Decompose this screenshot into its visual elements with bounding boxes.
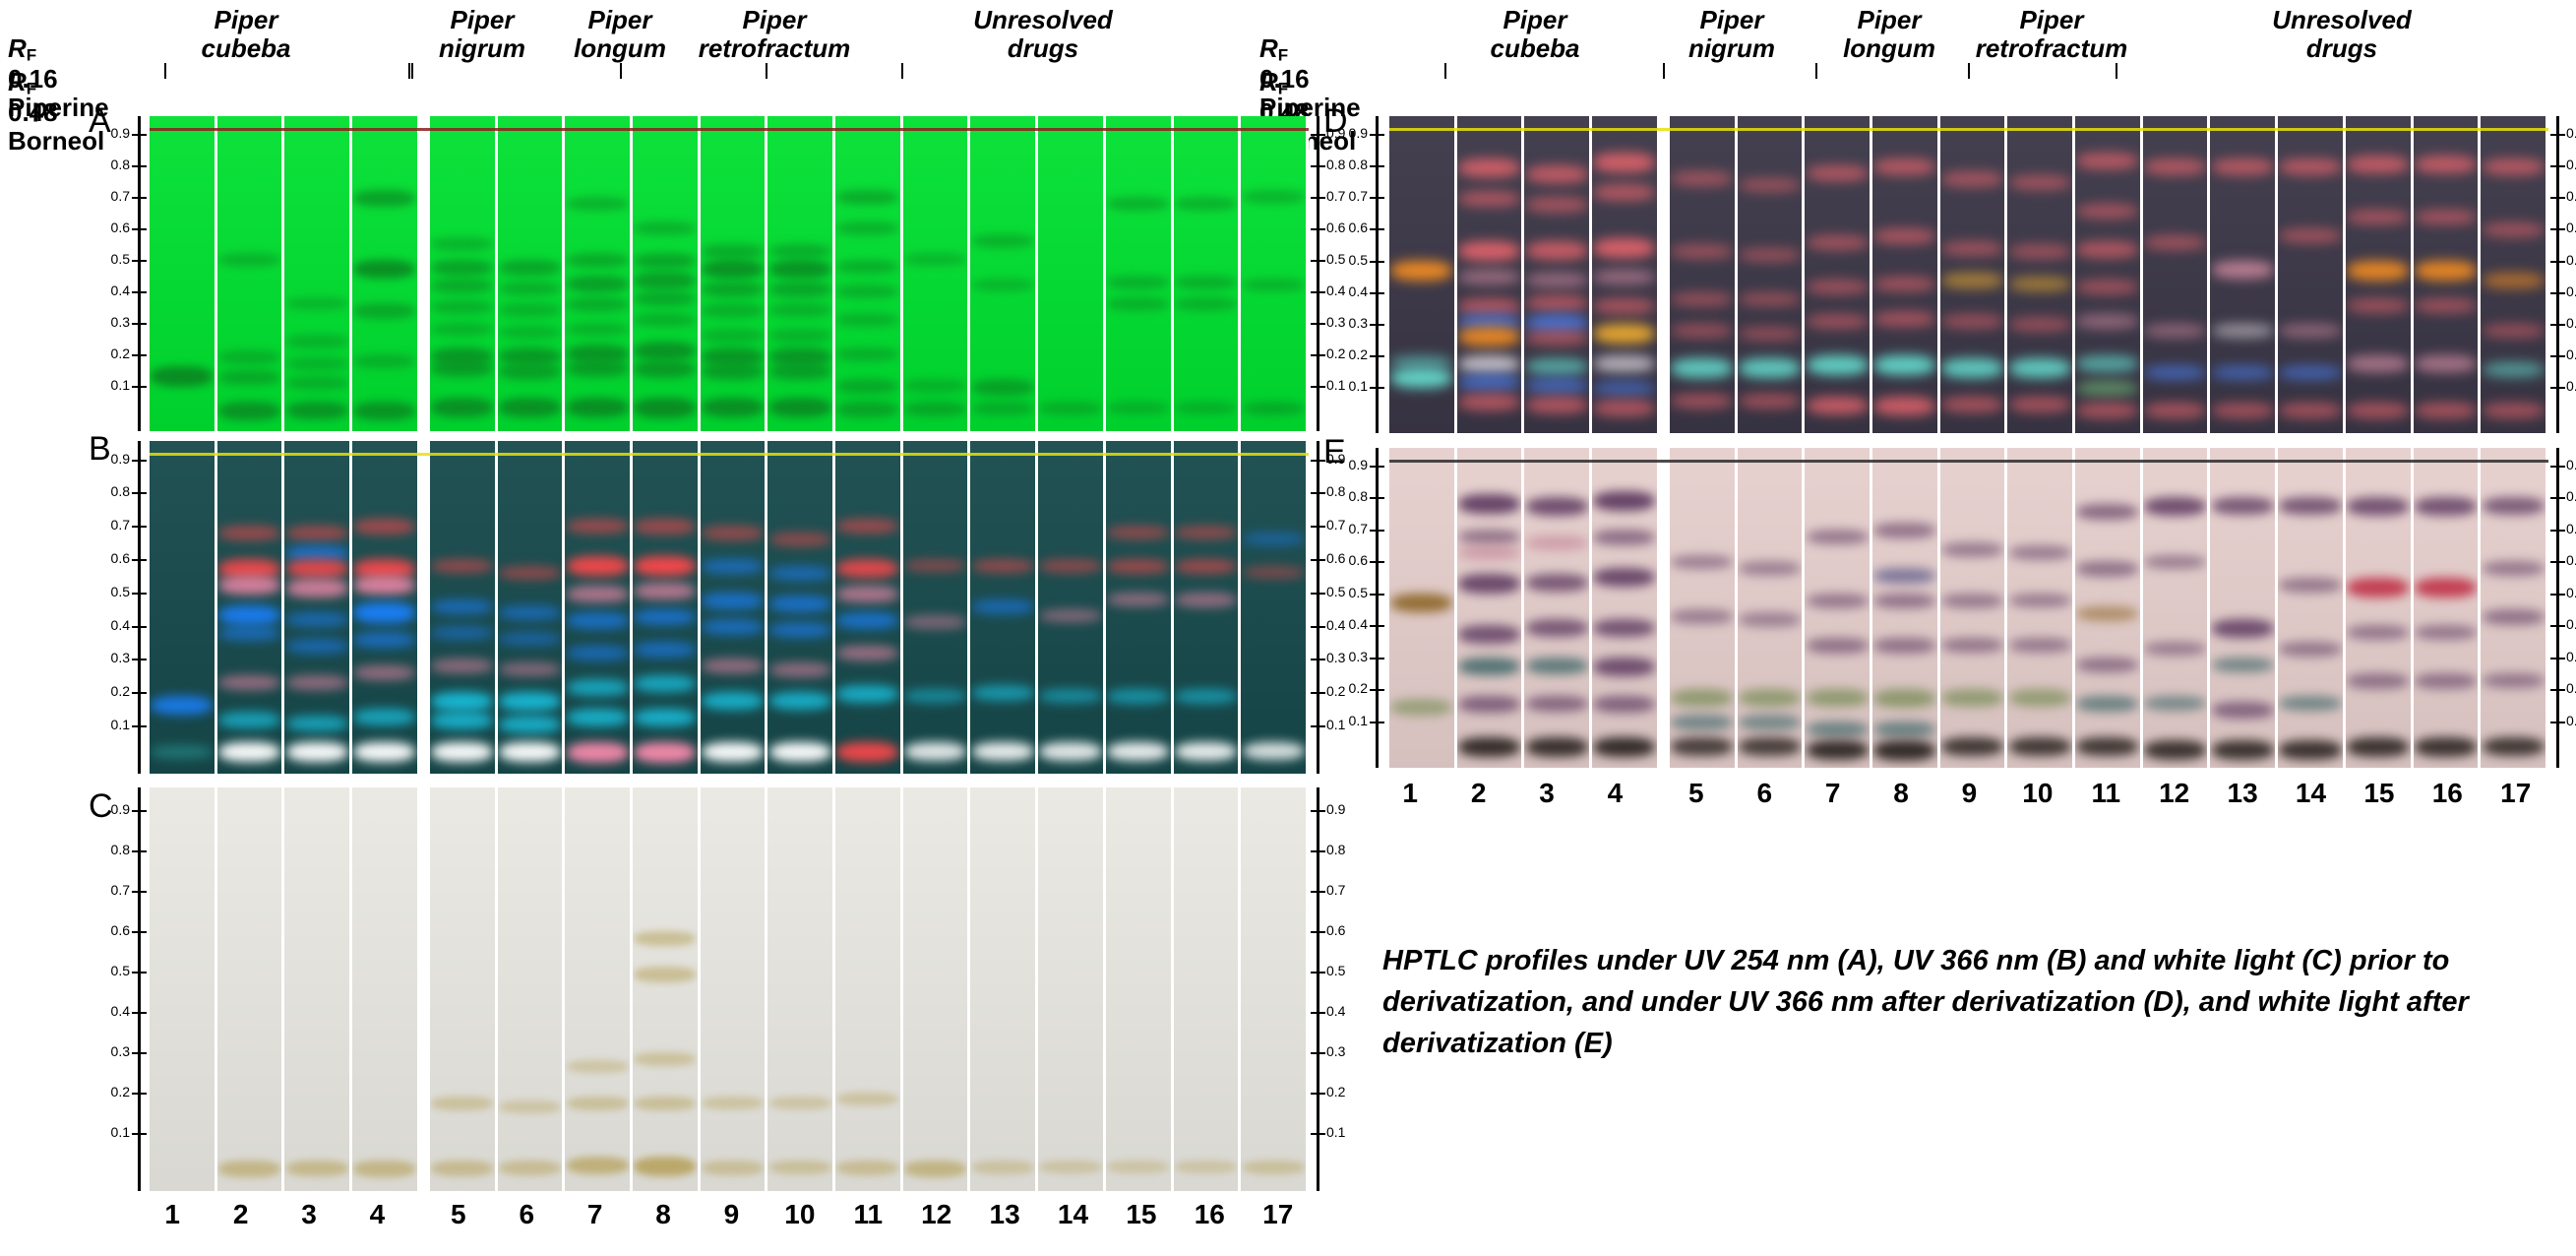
rf-axis-tick [1311, 972, 1325, 973]
chromatogram-plate-e [1389, 448, 2548, 768]
chromatogram-band [2279, 740, 2341, 760]
lane-number-10: 10 [767, 1199, 832, 1230]
lane-track [284, 116, 349, 431]
chromatogram-band [1175, 297, 1237, 311]
chromatogram-band [353, 576, 415, 596]
rf-axis-label: 0.3 [91, 1043, 130, 1059]
chromatogram-band [1671, 292, 1733, 307]
chromatogram-band [702, 559, 764, 575]
chromatogram-band [836, 586, 898, 602]
rf-axis-tick [132, 526, 147, 528]
chromatogram-band [1941, 689, 2003, 707]
lane-number-2: 2 [1445, 778, 1510, 809]
group-label-piper-retrofractum-right: Piper retrofractum [1929, 6, 2175, 63]
chromatogram-band [2347, 737, 2409, 757]
chromatogram-band [2076, 561, 2138, 577]
chromatogram-band [836, 742, 898, 763]
chromatogram-band [1593, 381, 1655, 396]
rf-axis-label: 0.2 [2566, 680, 2576, 696]
chromatogram-band [353, 402, 415, 420]
chromatogram-plate-c [150, 787, 1309, 1191]
lane-gap [1657, 448, 1670, 768]
rf-axis-tick [132, 810, 147, 812]
lane-number-gap [410, 1199, 423, 1230]
rf-axis-label: 0.7 [1328, 188, 1368, 204]
chromatogram-band [499, 303, 561, 317]
chromatogram-band [1873, 523, 1935, 538]
chromatogram-band [1593, 530, 1655, 545]
chromatogram-band [1873, 311, 1935, 327]
chromatogram-band [1390, 594, 1452, 613]
chromatogram-band [2076, 658, 2138, 673]
rf-axis-tick [2550, 165, 2565, 167]
lane-track [217, 787, 282, 1191]
chromatogram-band [702, 659, 764, 673]
chromatogram-band [2347, 298, 2409, 313]
chromatogram-band [702, 1161, 764, 1175]
chromatogram-band [1458, 158, 1520, 177]
chromatogram-band [1941, 273, 2003, 288]
chromatogram-band [431, 742, 493, 763]
lane-track [217, 116, 282, 431]
lane-track [835, 787, 900, 1191]
rf-axis-tick [1311, 626, 1325, 628]
chromatogram-band [1039, 742, 1101, 761]
chromatogram-band [1807, 689, 1869, 707]
chromatogram-band [567, 360, 629, 377]
lane-track [2075, 448, 2140, 768]
lane-track [1738, 116, 1803, 433]
rf-axis-label: 0.7 [1326, 882, 1366, 898]
rf-axis-left-a [138, 116, 141, 431]
chromatogram-band [353, 260, 415, 280]
lane-track [633, 441, 698, 774]
lane-track [1389, 448, 1454, 768]
lane-track [970, 441, 1035, 774]
chromatogram-band [499, 363, 561, 380]
chromatogram-band [2144, 158, 2206, 175]
lane-number-row-right: 1234567891011121314151617 [1378, 778, 2548, 809]
rf-axis-tick [1311, 354, 1325, 356]
lane-track [1457, 448, 1522, 768]
chromatogram-band [634, 291, 696, 307]
lane-track [565, 116, 630, 431]
lane-track [1038, 441, 1103, 774]
rf-axis-label: 0.5 [2566, 252, 2576, 268]
chromatogram-band [353, 709, 415, 725]
lane-track [498, 441, 563, 774]
chromatogram-band [2009, 397, 2071, 412]
lane-number-11: 11 [2073, 778, 2138, 809]
group-bracket-tick [408, 63, 410, 79]
chromatogram-band [836, 284, 898, 298]
rf-axis-label: 0.1 [1326, 1124, 1366, 1140]
chromatogram-band [1175, 1161, 1237, 1173]
group-bracket-tick [1968, 63, 1970, 79]
chromatogram-band [1039, 1161, 1101, 1173]
lane-track [150, 441, 215, 774]
chromatogram-band [1671, 737, 1733, 756]
rf-axis-tick [132, 197, 147, 199]
chromatogram-band [1593, 298, 1655, 314]
chromatogram-band [1593, 153, 1655, 172]
chromatogram-band [1243, 533, 1305, 545]
chromatogram-band [2347, 578, 2409, 597]
group-bracket-tick [411, 63, 413, 79]
lane-number-17: 17 [1246, 1199, 1311, 1230]
chromatogram-band [634, 1052, 696, 1066]
chromatogram-band [904, 253, 966, 266]
chromatogram-band [1175, 197, 1237, 211]
chromatogram-band [1526, 535, 1588, 550]
rf-axis-label: 0.1 [91, 717, 130, 732]
chromatogram-band [2483, 609, 2545, 625]
rf-axis-tick [1311, 460, 1325, 462]
chromatogram-band [2076, 737, 2138, 756]
rf-axis-label: 0.8 [91, 842, 130, 857]
chromatogram-band [2144, 642, 2206, 657]
lane-track [701, 441, 766, 774]
lane-track [903, 787, 968, 1191]
chromatogram-band [218, 350, 280, 364]
rf-axis-label: 0.1 [1328, 713, 1368, 728]
chromatogram-band [431, 398, 493, 417]
rf-axis-tick [2550, 594, 2565, 596]
lane-track [1940, 116, 2005, 433]
lane-track [2075, 116, 2140, 433]
lane-track [1174, 116, 1239, 431]
rf-axis-tick [2550, 134, 2565, 136]
rf-axis-tick [1370, 292, 1384, 294]
chromatogram-band [1873, 158, 1935, 175]
lane-track [2278, 448, 2343, 768]
chromatogram-band [2212, 740, 2274, 760]
chromatogram-band [702, 1097, 764, 1110]
chromatogram-band [1390, 699, 1452, 716]
chromatogram-band [1526, 295, 1588, 312]
rf-axis-tick [1370, 261, 1384, 263]
chromatogram-band [2415, 625, 2477, 640]
chromatogram-band [1107, 1161, 1169, 1173]
lane-track [2007, 116, 2072, 433]
rf-axis-label: 0.5 [1328, 585, 1368, 600]
rf-axis-tick [2550, 387, 2565, 389]
chromatogram-band [1873, 355, 1935, 375]
chromatogram-band [1039, 689, 1101, 704]
chromatogram-band [1458, 394, 1520, 410]
rf-axis-tick [1311, 659, 1325, 660]
lane-track [150, 116, 215, 431]
rf-axis-label: 0.2 [91, 1084, 130, 1099]
chromatogram-band [769, 533, 831, 546]
chromatogram-band [2144, 740, 2206, 760]
chromatogram-band [2009, 737, 2071, 756]
lane-track [565, 441, 630, 774]
chromatogram-band [499, 605, 561, 620]
chromatogram-band [2009, 594, 2071, 608]
rf-axis-label: 0.7 [91, 188, 130, 204]
chromatogram-band [2483, 362, 2545, 378]
chromatogram-band [2483, 324, 2545, 339]
lane-track [701, 787, 766, 1191]
chromatogram-band [567, 1097, 629, 1111]
chromatogram-band [499, 662, 561, 676]
lane-track [1389, 116, 1454, 433]
rf-axis-label: 0.2 [1326, 1084, 1366, 1099]
lane-track [1805, 116, 1870, 433]
chromatogram-band [1107, 197, 1169, 211]
chromatogram-band [2212, 365, 2274, 380]
chromatogram-band [1593, 238, 1655, 258]
chromatogram-band [702, 260, 764, 279]
rf-axis-label: 0.1 [1328, 378, 1368, 394]
rf-axis-label: 0.1 [91, 377, 130, 393]
rf-axis-label: 0.4 [2566, 283, 2576, 299]
rf-axis-tick [132, 291, 147, 293]
chromatogram-band [2144, 696, 2206, 711]
chromatogram-plate-b [150, 441, 1309, 774]
chromatogram-band [567, 679, 629, 696]
rf-axis-tick [1311, 559, 1325, 561]
lane-number-7: 7 [562, 1199, 627, 1230]
chromatogram-band [218, 253, 280, 267]
chromatogram-band [567, 253, 629, 268]
group-bracket-tick [2116, 63, 2117, 79]
chromatogram-band [1593, 696, 1655, 713]
rf-axis-tick [132, 228, 147, 230]
chromatogram-band [1458, 191, 1520, 207]
rf-axis-left-d [1376, 116, 1379, 433]
rf-axis-tick [1370, 466, 1384, 468]
chromatogram-band [634, 709, 696, 726]
chromatogram-band [1390, 261, 1452, 282]
rf-axis-tick [1311, 1093, 1325, 1095]
chromatogram-band [2347, 210, 2409, 225]
rf-axis-tick [132, 1052, 147, 1054]
rf-axis-label: 0.6 [91, 550, 130, 566]
rf-axis-label: 0.4 [1326, 1003, 1366, 1019]
chromatogram-band [286, 612, 348, 627]
chromatogram-band [1526, 574, 1588, 592]
rf-axis-tick [132, 931, 147, 933]
lane-track [835, 441, 900, 774]
chromatogram-band [1526, 273, 1588, 287]
rf-axis-tick [132, 659, 147, 660]
chromatogram-band [286, 357, 348, 371]
lane-track [1457, 116, 1522, 433]
lane-track [1241, 441, 1306, 774]
chromatogram-band [567, 1060, 629, 1073]
lane-number-16: 16 [2415, 778, 2480, 809]
chromatogram-band [2415, 298, 2477, 313]
rf-axis-left-b [138, 441, 141, 774]
chromatogram-band [286, 297, 348, 310]
chromatogram-band [499, 326, 561, 339]
chromatogram-band [286, 639, 348, 654]
rf-axis-tick [1311, 197, 1325, 199]
chromatogram-band [431, 559, 493, 574]
rf-axis-tick [1311, 134, 1325, 136]
chromatogram-band [702, 742, 764, 763]
chromatogram-band [1807, 235, 1869, 251]
chromatogram-band [1526, 619, 1588, 637]
rf-axis-label: 0.8 [1326, 842, 1366, 857]
chromatogram-band [1593, 737, 1655, 757]
group-bracket-tick [620, 63, 622, 79]
chromatogram-band [2144, 403, 2206, 418]
lane-track [352, 116, 417, 431]
lane-track [2210, 116, 2275, 433]
chromatogram-band [1039, 559, 1101, 573]
chromatogram-band [1739, 737, 1801, 756]
rf-axis-label: 0.3 [2566, 649, 2576, 664]
chromatogram-band [353, 665, 415, 680]
lane-track [767, 116, 832, 431]
chromatogram-band [353, 190, 415, 207]
lane-track [1872, 116, 1937, 433]
lane-number-15: 15 [1109, 1199, 1174, 1230]
lane-track [835, 116, 900, 431]
chromatogram-band [702, 593, 764, 609]
lane-track [970, 787, 1035, 1191]
lane-track [284, 787, 349, 1191]
chromatogram-band [2483, 158, 2545, 175]
lane-track [498, 116, 563, 431]
chromatogram-band [1243, 279, 1305, 292]
chromatogram-band [2347, 497, 2409, 516]
lane-track [1106, 787, 1171, 1191]
rf-axis-tick [132, 165, 147, 167]
rf-axis-tick [1311, 228, 1325, 230]
chromatogram-band [702, 398, 764, 417]
chromatogram-band [634, 519, 696, 534]
lane-track [767, 787, 832, 1191]
rf-axis-label: 0.4 [91, 617, 130, 633]
chromatogram-band [1107, 402, 1169, 415]
rf-axis-tick [1370, 689, 1384, 691]
lane-track [1872, 448, 1937, 768]
chromatogram-band [286, 1161, 348, 1176]
chromatogram-band [353, 303, 415, 319]
rf-axis-label: 0.2 [1328, 680, 1368, 696]
rf-axis-label: 0.7 [91, 882, 130, 898]
chromatogram-band [1526, 358, 1588, 375]
chromatogram-band [2009, 175, 2071, 190]
chromatogram-band [567, 398, 629, 417]
chromatogram-band [286, 716, 348, 732]
hptlc-figure: RF 0.16 Piperine RF 0.48 Borneol Piper c… [0, 0, 2576, 1256]
lane-track [2278, 116, 2343, 433]
chromatogram-band [2076, 504, 2138, 521]
chromatogram-band [1526, 165, 1588, 183]
rf-axis-label: 0.4 [91, 1003, 130, 1019]
rf-axis-label: 0.9 [91, 801, 130, 817]
chromatogram-band [1671, 171, 1733, 186]
chromatogram-band [1873, 568, 1935, 584]
chromatogram-band [1107, 297, 1169, 311]
rf-axis-tick [1311, 260, 1325, 262]
chromatogram-band [836, 612, 898, 629]
rf-axis-tick [132, 559, 147, 561]
rf-axis-label: 0.7 [91, 517, 130, 533]
lane-track [970, 116, 1035, 431]
rf-axis-label: 0.9 [1326, 801, 1366, 817]
rf-axis-tick [1311, 1133, 1325, 1135]
rf-axis-label: 0.8 [2566, 488, 2576, 504]
chromatogram-band [567, 323, 629, 337]
chromatogram-band [353, 602, 415, 623]
chromatogram-band [431, 712, 493, 729]
chromatogram-band [634, 642, 696, 658]
chromatogram-band [1175, 593, 1237, 607]
lane-track [352, 787, 417, 1191]
chromatogram-band [1107, 526, 1169, 539]
chromatogram-band [1941, 358, 2003, 378]
rf-axis-tick [1311, 1012, 1325, 1014]
rf-axis-tick [132, 692, 147, 694]
lane-number-3: 3 [276, 1199, 341, 1230]
chromatogram-band [1458, 355, 1520, 373]
chromatogram-band [1941, 241, 2003, 256]
chromatogram-band [1941, 314, 2003, 329]
chromatogram-band [499, 282, 561, 295]
lane-track [1106, 116, 1171, 431]
rf-axis-tick [2550, 722, 2565, 723]
chromatogram-band [1458, 658, 1520, 675]
rf-axis-right-b [1317, 441, 1319, 774]
chromatogram-band [1671, 394, 1733, 409]
chromatogram-band [1593, 184, 1655, 201]
chromatogram-band [1739, 358, 1801, 378]
chromatogram-band [2076, 606, 2138, 621]
chromatogram-band [353, 632, 415, 648]
lane-number-9: 9 [1936, 778, 2001, 809]
rf-axis-label: 0.4 [91, 283, 130, 298]
chromatogram-band [1739, 178, 1801, 193]
chromatogram-band [702, 363, 764, 380]
chromatogram-band [2212, 497, 2274, 515]
group-bracket-tick [164, 63, 166, 79]
rf-axis-label: 0.7 [2566, 188, 2576, 204]
chromatogram-band [769, 329, 831, 343]
chromatogram-band [2212, 619, 2274, 638]
rf-axis-label: 0.3 [2566, 315, 2576, 331]
chromatogram-band [2415, 355, 2477, 372]
chromatogram-band [702, 282, 764, 297]
lane-number-13: 13 [972, 1199, 1037, 1230]
chromatogram-band [431, 279, 493, 293]
rf-axis-tick [132, 460, 147, 462]
chromatogram-band [769, 1097, 831, 1109]
chromatogram-band [634, 583, 696, 599]
figure-caption: HPTLC profiles under UV 254 nm (A), UV 3… [1382, 940, 2553, 1064]
chromatogram-band [567, 297, 629, 312]
chromatogram-band [634, 221, 696, 235]
lane-track [1524, 448, 1589, 768]
chromatogram-band [1807, 165, 1869, 182]
chromatogram-band [1593, 324, 1655, 345]
chromatogram-band [634, 272, 696, 288]
chromatogram-band [1593, 491, 1655, 511]
chromatogram-band [1175, 402, 1237, 415]
rf-axis-tick [1370, 497, 1384, 499]
chromatogram-band [1807, 740, 1869, 760]
chromatogram-band [1807, 355, 1869, 375]
chromatogram-band [634, 609, 696, 626]
lane-track [2481, 448, 2545, 768]
lane-number-row-left: 1234567891011121314151617 [140, 1199, 1311, 1230]
chromatogram-band [2009, 317, 2071, 331]
